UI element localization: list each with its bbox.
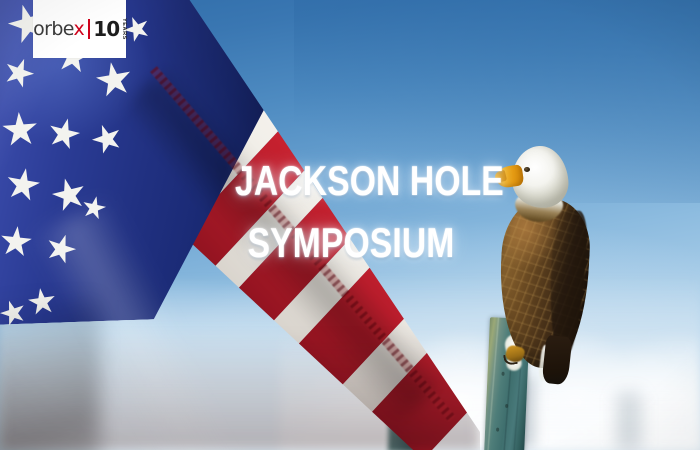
title-line-1: JACKSON HOLE xyxy=(235,150,467,212)
logo-content: orbex 10 YEARS xyxy=(33,0,126,58)
logo-brand-main: orbe xyxy=(33,18,73,40)
promo-banner: JACKSON HOLE SYMPOSIUM orbex 10 YEARS xyxy=(0,0,700,450)
orbex-logo[interactable]: orbex 10 YEARS xyxy=(33,0,126,58)
title-line-2: SYMPOSIUM xyxy=(235,212,467,274)
eagle-tail xyxy=(542,335,573,385)
bald-eagle xyxy=(488,140,606,380)
logo-row: orbex 10 YEARS xyxy=(33,17,126,41)
logo-anniversary-unit: YEARS xyxy=(120,18,126,40)
page-title: JACKSON HOLE SYMPOSIUM xyxy=(206,150,496,274)
eagle-talon xyxy=(503,353,518,366)
logo-brand-text: orbex xyxy=(33,20,84,39)
background-blur-shape-right xyxy=(616,392,642,450)
logo-anniversary-number: 10 xyxy=(93,19,119,39)
eagle-eye xyxy=(524,167,530,172)
logo-brand-accent: x xyxy=(74,18,85,40)
flag-bottom-shadow xyxy=(0,330,480,450)
logo-divider-icon xyxy=(88,19,90,39)
